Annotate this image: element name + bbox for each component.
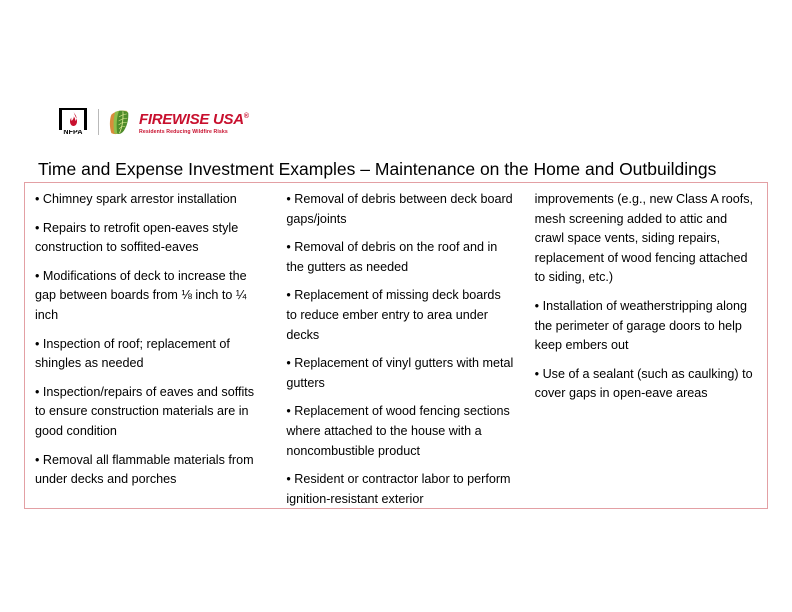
- table-column-3: improvements (e.g., new Class A roofs, m…: [525, 183, 767, 508]
- table-column-1: • Chimney spark arrestor installation • …: [25, 183, 276, 508]
- list-item: • Replacement of missing deck boards to …: [286, 286, 514, 345]
- page-title: Time and Expense Investment Examples – M…: [38, 158, 768, 180]
- list-item: • Replacement of wood fencing sections w…: [286, 402, 514, 461]
- list-item: • Inspection of roof; replacement of shi…: [35, 335, 266, 374]
- list-item: • Chimney spark arrestor installation: [35, 190, 266, 210]
- list-item: • Use of a sealant (such as caulking) to…: [535, 365, 757, 404]
- flame-icon: [68, 111, 79, 126]
- firewise-name: FIREWISE USA: [139, 111, 244, 128]
- list-item-continuation: improvements (e.g., new Class A roofs, m…: [535, 190, 757, 288]
- list-item: • Resident or contractor labor to perfor…: [286, 470, 514, 509]
- firewise-tagline: Residents Reducing Wildfire Risks: [139, 129, 249, 136]
- list-item: • Repairs to retrofit open-eaves style c…: [35, 219, 266, 258]
- slide-canvas: NFPA FIREWISE USA® Residents Reducing Wi…: [0, 0, 792, 612]
- list-item: • Removal all flammable materials from u…: [35, 451, 266, 490]
- nfpa-mark: [59, 108, 87, 130]
- list-item: • Installation of weatherstripping along…: [535, 297, 757, 356]
- firewise-logo: FIREWISE USA® Residents Reducing Wildfir…: [108, 109, 249, 136]
- list-item: • Removal of debris between deck board g…: [286, 190, 514, 229]
- examples-table: • Chimney spark arrestor installation • …: [24, 182, 768, 509]
- firewise-wordmark: FIREWISE USA®: [139, 109, 249, 128]
- list-item: • Replacement of vinyl gutters with meta…: [286, 354, 514, 393]
- logo-bar: NFPA FIREWISE USA® Residents Reducing Wi…: [58, 105, 249, 139]
- nfpa-logo: NFPA: [58, 107, 88, 137]
- registered-mark: ®: [244, 113, 249, 120]
- list-item: • Modifications of deck to increase the …: [35, 267, 266, 326]
- list-item: • Removal of debris on the roof and in t…: [286, 238, 514, 277]
- list-item: • Inspection/repairs of eaves and soffit…: [35, 383, 266, 442]
- leaf-icon: [108, 109, 133, 136]
- table-column-2: • Removal of debris between deck board g…: [276, 183, 524, 508]
- firewise-wordmark-block: FIREWISE USA® Residents Reducing Wildfir…: [139, 109, 249, 136]
- nfpa-wordmark: NFPA: [63, 129, 82, 137]
- logo-divider: [98, 109, 99, 135]
